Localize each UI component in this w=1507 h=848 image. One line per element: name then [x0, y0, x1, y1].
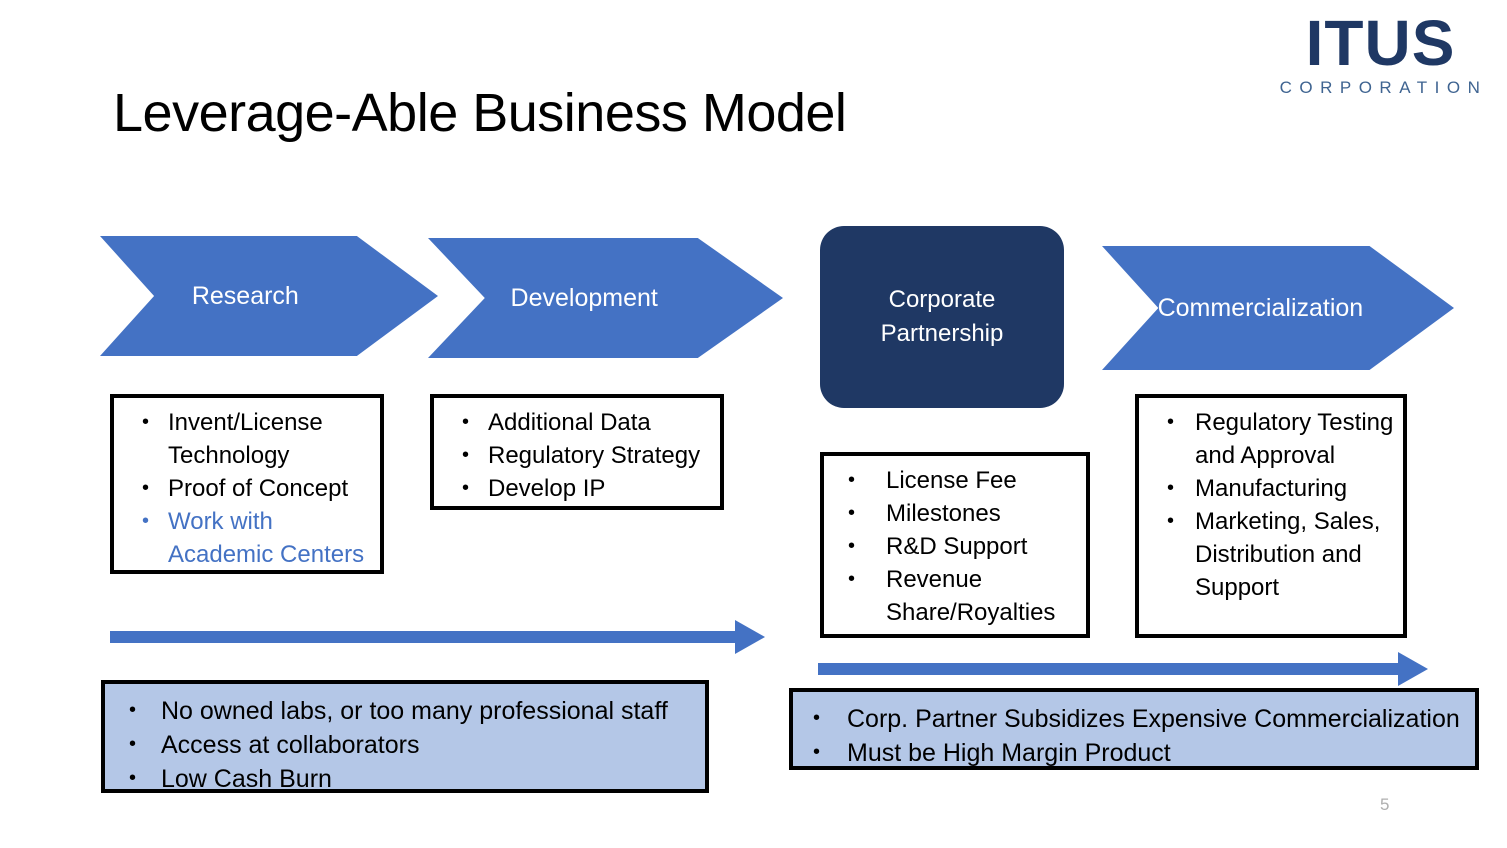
list-item: Develop IP: [440, 472, 714, 505]
logo-subtitle: CORPORATION: [1268, 78, 1493, 98]
page-number: 5: [1380, 795, 1389, 815]
stage-label-research: Research: [192, 282, 299, 311]
list-item: Additional Data: [440, 406, 714, 439]
list-item: Milestones: [830, 497, 1080, 530]
summary-panel-right: Corp. Partner Subsidizes Expensive Comme…: [789, 688, 1479, 770]
detail-box-commercialization: Regulatory Testing and Approval Manufact…: [1135, 394, 1407, 638]
arrow-shaft: [110, 631, 738, 643]
development-item-list: Additional Data Regulatory Strategy Deve…: [440, 406, 714, 505]
itus-corporation-logo: ITUS CORPORATION: [1268, 10, 1493, 110]
stage-arrow-research: Research: [100, 236, 438, 356]
detail-box-research: Invent/License Technology Proof of Conce…: [110, 394, 384, 574]
arrow-shaft: [818, 663, 1401, 675]
summary-left-list: No owned labs, or too many professional …: [113, 694, 697, 796]
corporate-partnership-line1: Corporate: [881, 283, 1004, 317]
page-title: Leverage-Able Business Model: [113, 82, 846, 144]
list-item: Must be High Margin Product: [801, 736, 1467, 770]
arrow-head: [735, 620, 765, 654]
stage-box-corporate-partnership: Corporate Partnership: [820, 226, 1064, 408]
commercialization-item-list: Regulatory Testing and Approval Manufact…: [1145, 406, 1397, 604]
right-arrow-icon-left-span: [110, 620, 765, 654]
list-item: R&D Support: [830, 530, 1080, 563]
list-item: Manufacturing: [1145, 472, 1397, 505]
arrow-head: [1398, 652, 1428, 686]
stage-arrow-development: Development: [428, 238, 783, 358]
list-item: Regulatory Testing and Approval: [1145, 406, 1397, 472]
list-item: License Fee: [830, 464, 1080, 497]
stage-label-commercialization: Commercialization: [1158, 294, 1364, 323]
detail-box-corporate-partnership: License Fee Milestones R&D Support Reven…: [820, 452, 1090, 638]
partnership-item-list: License Fee Milestones R&D Support Reven…: [830, 464, 1080, 629]
list-item: Corp. Partner Subsidizes Expensive Comme…: [801, 702, 1467, 736]
logo-wordmark: ITUS: [1268, 10, 1493, 76]
detail-box-development: Additional Data Regulatory Strategy Deve…: [430, 394, 724, 510]
stage-arrow-commercialization: Commercialization: [1102, 246, 1454, 370]
stage-label-corporate-partnership: Corporate Partnership: [881, 283, 1004, 351]
list-item: No owned labs, or too many professional …: [113, 694, 697, 728]
research-item-list: Invent/License Technology Proof of Conce…: [120, 406, 374, 571]
list-item: Invent/License Technology: [120, 406, 374, 472]
stage-label-development: Development: [511, 284, 658, 313]
corporate-partnership-line2: Partnership: [881, 317, 1004, 351]
list-item: Marketing, Sales, Distribution and Suppo…: [1145, 505, 1397, 604]
summary-right-list: Corp. Partner Subsidizes Expensive Comme…: [801, 702, 1467, 770]
right-arrow-icon-right-span: [818, 652, 1428, 686]
list-item: Low Cash Burn: [113, 762, 697, 796]
summary-panel-left: No owned labs, or too many professional …: [101, 680, 709, 793]
list-item: Regulatory Strategy: [440, 439, 714, 472]
list-item: Proof of Concept: [120, 472, 374, 505]
list-item: Access at collaborators: [113, 728, 697, 762]
list-item: Revenue Share/Royalties: [830, 563, 1080, 629]
list-item: Work with Academic Centers: [120, 505, 374, 571]
